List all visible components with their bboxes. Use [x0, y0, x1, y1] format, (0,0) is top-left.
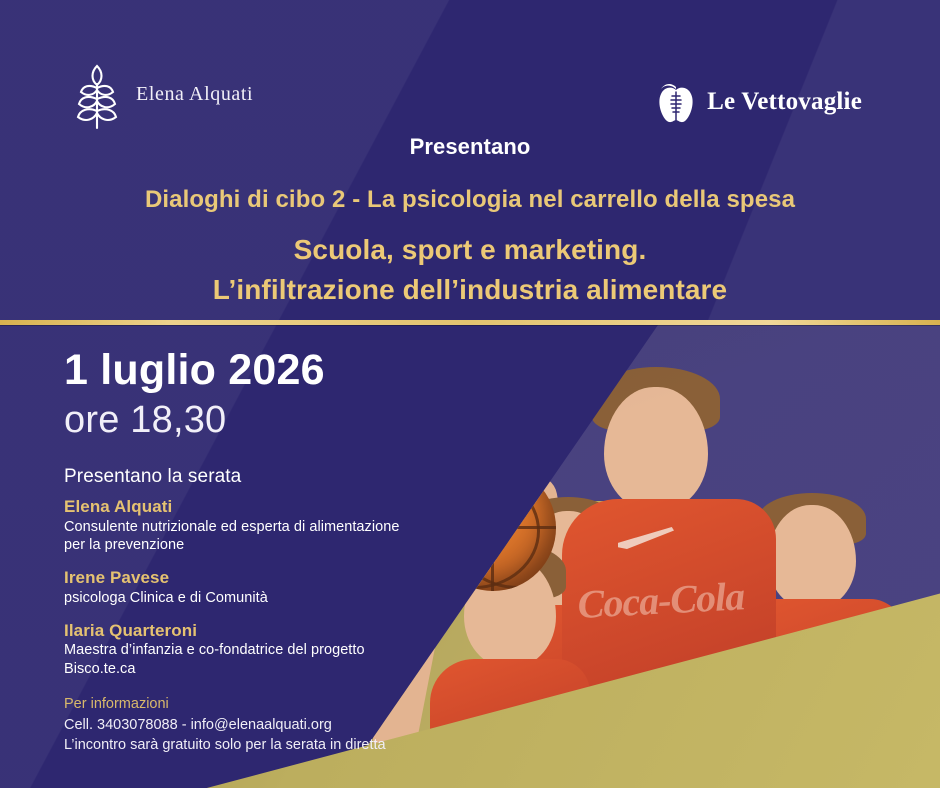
host-name: Elena Alquati — [64, 497, 464, 518]
host-entry: Elena Alquati Consulente nutrizionale ed… — [64, 497, 464, 555]
host-entry: Irene Pavese psicologa Clinica e di Comu… — [64, 568, 464, 607]
host-role-line: per la prevenzione — [64, 536, 464, 555]
info-section: Per informazioni Cell. 3403078088 - info… — [64, 694, 494, 756]
event-datetime: 1 luglio 2026 ore 18,30 — [64, 348, 325, 441]
brand-elena-alquati-label: Elena Alquati — [136, 83, 253, 106]
player-head — [768, 505, 856, 609]
hosts-lead-label: Presentano la serata — [64, 466, 464, 488]
page-title: Scuola, sport e marketing. L’infiltrazio… — [0, 230, 940, 310]
info-title: Per informazioni — [64, 694, 494, 715]
hosts-section: Presentano la serata Elena Alquati Consu… — [64, 466, 464, 692]
wheat-stalk-icon — [72, 58, 122, 130]
page-title-line-2: L’infiltrazione dell’industria alimentar… — [0, 270, 940, 310]
host-entry: Ilaria Quarteroni Maestra d’infanzia e c… — [64, 621, 464, 679]
host-role-line: Consulente nutrizionale ed esperta di al… — [64, 518, 464, 537]
brand-elena-alquati[interactable]: Elena Alquati — [72, 58, 253, 130]
host-role-line: Bisco.te.ca — [64, 660, 464, 679]
presentano-label: Presentano — [0, 134, 940, 160]
info-contact[interactable]: Cell. 3403078088 - info@elenaalquati.org — [64, 715, 494, 736]
event-time: ore 18,30 — [64, 399, 325, 442]
page-title-line-1: Scuola, sport e marketing. — [0, 230, 940, 270]
brand-le-vettovaglie[interactable]: Le Vettovaglie — [656, 80, 862, 124]
host-name: Ilaria Quarteroni — [64, 621, 464, 642]
gold-divider — [0, 320, 940, 325]
info-note: L’incontro sarà gratuito solo per la ser… — [64, 735, 494, 756]
apple-corn-icon — [656, 80, 696, 124]
host-role-line: psicologa Clinica e di Comunità — [64, 589, 464, 608]
jersey-brand-label: Coca-Cola — [576, 571, 769, 645]
host-name: Irene Pavese — [64, 568, 464, 589]
player-head — [604, 387, 708, 511]
host-role-line: Maestra d’infanzia e co-fondatrice del p… — [64, 641, 464, 660]
event-date: 1 luglio 2026 — [64, 348, 325, 393]
brand-le-vettovaglie-label: Le Vettovaglie — [707, 88, 862, 116]
series-title: Dialoghi di cibo 2 - La psicologia nel c… — [0, 186, 940, 214]
event-poster: Coca-Cola SPALDING — [0, 0, 940, 788]
